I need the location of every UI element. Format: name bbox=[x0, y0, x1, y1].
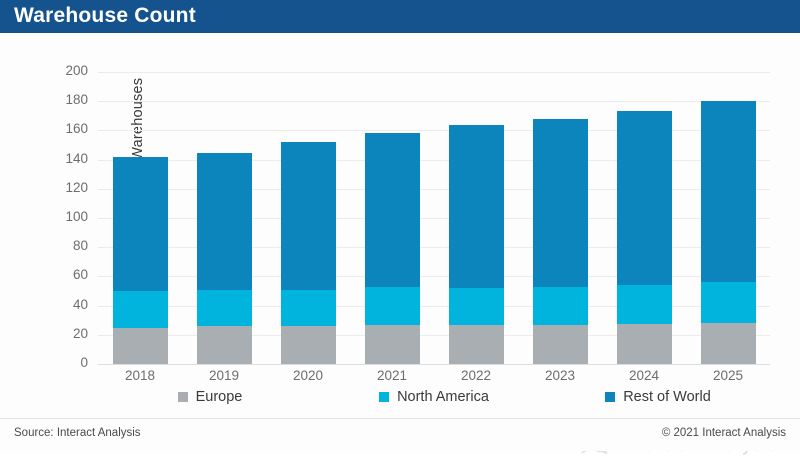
x-axis-tick-2018: 2018 bbox=[98, 368, 182, 383]
bar-segment-rest-of-world-2024[interactable] bbox=[617, 111, 672, 285]
stacked-bar-2023[interactable] bbox=[533, 119, 588, 364]
y-axis-tick-160: 160 bbox=[28, 121, 88, 136]
title-bar: Warehouse Count bbox=[0, 0, 800, 33]
stacked-bar-2022[interactable] bbox=[449, 125, 504, 364]
bar-segment-rest-of-world-2019[interactable] bbox=[197, 153, 252, 290]
y-axis-tick-40: 40 bbox=[28, 297, 88, 312]
y-axis-tick-20: 20 bbox=[28, 326, 88, 341]
bar-segment-europe-2025[interactable] bbox=[701, 323, 756, 364]
x-axis-tick-2024: 2024 bbox=[602, 368, 686, 383]
x-axis-tick-2019: 2019 bbox=[182, 368, 266, 383]
legend-item-north-america[interactable]: North America bbox=[322, 389, 546, 405]
bar-segment-europe-2020[interactable] bbox=[281, 326, 336, 364]
bar-segment-north-america-2024[interactable] bbox=[617, 285, 672, 324]
gridline-0 bbox=[98, 364, 770, 365]
bar-column-2024[interactable]: 2024 bbox=[602, 72, 686, 364]
x-axis-tick-2022: 2022 bbox=[434, 368, 518, 383]
bar-segment-rest-of-world-2023[interactable] bbox=[533, 119, 588, 287]
plot-area: 1000s of Warehouses 20018016014012010080… bbox=[98, 52, 770, 364]
bar-segment-rest-of-world-2025[interactable] bbox=[701, 101, 756, 282]
bar-segment-europe-2018[interactable] bbox=[113, 328, 168, 365]
bar-column-2020[interactable]: 2020 bbox=[266, 72, 350, 364]
legend-item-europe[interactable]: Europe bbox=[98, 389, 322, 405]
bar-segment-europe-2024[interactable] bbox=[617, 324, 672, 364]
x-axis-tick-2023: 2023 bbox=[518, 368, 602, 383]
bar-segment-north-america-2019[interactable] bbox=[197, 290, 252, 327]
bar-column-2018[interactable]: 2018 bbox=[98, 72, 182, 364]
bar-column-2022[interactable]: 2022 bbox=[434, 72, 518, 364]
bar-segment-north-america-2023[interactable] bbox=[533, 287, 588, 325]
bar-segment-europe-2022[interactable] bbox=[449, 325, 504, 364]
bar-segment-rest-of-world-2018[interactable] bbox=[113, 157, 168, 291]
bar-series-group: 20182019202020212022202320242025 bbox=[98, 72, 770, 364]
page-title: Warehouse Count bbox=[14, 4, 196, 28]
bar-segment-north-america-2018[interactable] bbox=[113, 291, 168, 328]
y-axis-tick-140: 140 bbox=[28, 151, 88, 166]
bar-segment-north-america-2025[interactable] bbox=[701, 282, 756, 323]
bar-column-2025[interactable]: 2025 bbox=[686, 72, 770, 364]
y-axis-tick-0: 0 bbox=[28, 355, 88, 370]
bar-segment-north-america-2022[interactable] bbox=[449, 288, 504, 325]
bar-column-2021[interactable]: 2021 bbox=[350, 72, 434, 364]
legend-item-rest-of-world[interactable]: Rest of World bbox=[546, 389, 770, 405]
chart-legend: EuropeNorth AmericaRest of World bbox=[98, 385, 770, 409]
y-axis-tick-80: 80 bbox=[28, 238, 88, 253]
stacked-bar-2024[interactable] bbox=[617, 111, 672, 364]
stacked-bar-2021[interactable] bbox=[365, 133, 420, 364]
square-swatch-north-america bbox=[379, 392, 389, 402]
y-axis-tick-200: 200 bbox=[28, 63, 88, 78]
footer-bar: Source: Interact Analysis © 2021 Interac… bbox=[0, 418, 800, 451]
bar-segment-rest-of-world-2022[interactable] bbox=[449, 125, 504, 288]
square-swatch-rest-of-world bbox=[605, 392, 615, 402]
bar-segment-europe-2023[interactable] bbox=[533, 325, 588, 364]
x-axis-tick-2021: 2021 bbox=[350, 368, 434, 383]
square-swatch-europe bbox=[178, 392, 188, 402]
stacked-bar-2019[interactable] bbox=[197, 153, 252, 364]
chart-screenshot: Warehouse Count 1000s of Warehouses 2001… bbox=[0, 0, 800, 450]
y-axis-tick-120: 120 bbox=[28, 180, 88, 195]
bar-segment-north-america-2020[interactable] bbox=[281, 290, 336, 327]
stacked-bar-2025[interactable] bbox=[701, 101, 756, 364]
bar-segment-europe-2019[interactable] bbox=[197, 326, 252, 364]
copyright-note: © 2021 Interact Analysis bbox=[662, 427, 786, 439]
x-axis-tick-2025: 2025 bbox=[686, 368, 770, 383]
stacked-bar-2020[interactable] bbox=[281, 142, 336, 364]
x-axis-tick-2020: 2020 bbox=[266, 368, 350, 383]
bar-column-2019[interactable]: 2019 bbox=[182, 72, 266, 364]
legend-label: Europe bbox=[196, 389, 243, 405]
bar-segment-rest-of-world-2021[interactable] bbox=[365, 133, 420, 288]
bar-segment-rest-of-world-2020[interactable] bbox=[281, 142, 336, 289]
chart-container: 1000s of Warehouses 20018016014012010080… bbox=[0, 33, 800, 418]
y-axis-tick-180: 180 bbox=[28, 92, 88, 107]
bar-segment-europe-2021[interactable] bbox=[365, 325, 420, 364]
bar-segment-north-america-2021[interactable] bbox=[365, 287, 420, 324]
source-note: Source: Interact Analysis bbox=[14, 427, 141, 439]
bar-column-2023[interactable]: 2023 bbox=[518, 72, 602, 364]
y-axis-tick-100: 100 bbox=[28, 209, 88, 224]
legend-label: North America bbox=[397, 389, 489, 405]
legend-label: Rest of World bbox=[623, 389, 711, 405]
stacked-bar-2018[interactable] bbox=[113, 157, 168, 364]
y-axis-tick-60: 60 bbox=[28, 267, 88, 282]
